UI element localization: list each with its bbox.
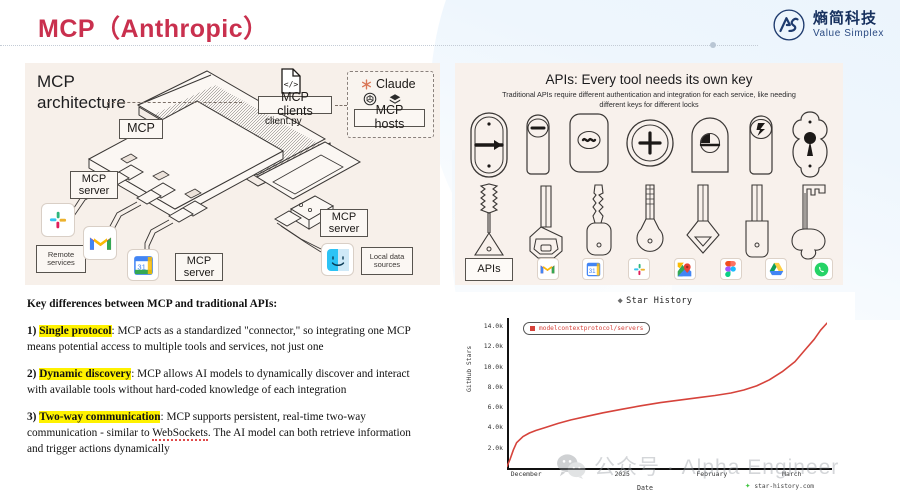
- point-3-misspelled-word: WebSockets: [152, 427, 208, 441]
- google-calendar-icon: 31: [127, 249, 159, 281]
- api-keys-panel: APIs: Every tool needs its own key Tradi…: [455, 63, 843, 285]
- chart-attribution-text: star-history.com: [754, 483, 814, 490]
- point-3-term: Two-way communication: [39, 411, 160, 423]
- legend-label: modelcontextprotocol/servers: [539, 325, 643, 332]
- key-icon-1: [467, 183, 511, 261]
- lock-icon-5: [688, 110, 732, 180]
- node-mcp-hosts: MCP hosts: [354, 109, 425, 127]
- lock-icon-4: [624, 110, 676, 180]
- lock-icon-2: [523, 110, 553, 180]
- header-divider: [0, 45, 758, 46]
- lock-icon-3: [566, 110, 612, 180]
- connector-laptop-to-clients: [107, 102, 242, 103]
- chart-title: ◆Star History: [455, 296, 855, 306]
- chart-y-axis-label: GitHub Stars: [465, 346, 473, 392]
- chart-series-line: [507, 318, 827, 468]
- key-icon-6: [738, 183, 774, 261]
- node-local-data-sources: Local data sources: [361, 247, 413, 275]
- point-2-term: Dynamic discovery: [39, 368, 131, 380]
- point-1-number: 1): [27, 325, 36, 337]
- chart-y-tick: 10.0k: [484, 363, 503, 371]
- slack-icon: [628, 258, 650, 280]
- google-maps-icon: [674, 258, 696, 280]
- point-2-number: 2): [27, 368, 36, 380]
- chart-title-text: Star History: [626, 296, 692, 306]
- chart-x-tick: 2025: [614, 470, 629, 478]
- chart-x-tick: December: [511, 470, 542, 478]
- claude-asterisk-icon: [361, 79, 372, 90]
- connector-tick: [107, 102, 108, 110]
- mcp-architecture-panel: MCParchitecture </> MCP clients client.p…: [25, 63, 440, 285]
- lock-icon-7: [789, 110, 831, 180]
- svg-text:31: 31: [589, 267, 596, 274]
- gmail-icon: [83, 226, 117, 260]
- body-heading: Key differences between MCP and traditio…: [27, 296, 427, 312]
- lock-icon-6: [745, 110, 777, 180]
- as-circle-logo-icon: [772, 8, 806, 42]
- star-history-chart: ◆Star History GitHub Stars Date 2.0k4.0k…: [455, 292, 855, 497]
- mcp-architecture-heading: MCParchitecture: [37, 71, 126, 114]
- node-mcp: MCP: [119, 119, 163, 139]
- chart-x-tick: March: [782, 470, 801, 478]
- figma-icon: [720, 258, 742, 280]
- node-mcp-server-2: MCP server: [320, 209, 368, 237]
- key-icon-7: [789, 183, 831, 261]
- chart-y-tick: 2.0k: [488, 444, 503, 452]
- claude-row: Claude: [361, 77, 416, 91]
- company-logo: 熵简科技 Value Simplex: [772, 8, 884, 42]
- chart-y-tick: 8.0k: [488, 383, 503, 391]
- connector-clients-to-hosts: [335, 105, 347, 106]
- gmail-icon: [537, 258, 559, 280]
- api-panel-title: APIs: Every tool needs its own key: [455, 72, 843, 87]
- chart-y-tick: 14.0k: [484, 322, 503, 330]
- node-remote-services: Remote services: [36, 245, 86, 273]
- chart-attribution: ✦ star-history.com: [745, 482, 814, 491]
- star-history-logo-icon: ✦: [745, 482, 750, 491]
- node-mcp-clients: MCP clients: [258, 96, 332, 114]
- mac-finder-icon: [321, 243, 354, 276]
- google-drive-icon: [765, 258, 787, 280]
- body-text-block: Key differences between MCP and traditio…: [27, 296, 427, 468]
- gem-icon: ◆: [618, 296, 624, 306]
- header-divider-dot: [710, 42, 716, 48]
- node-client-py: client.py: [265, 116, 302, 127]
- svg-text:</>: </>: [284, 80, 299, 89]
- chart-y-tick: 6.0k: [488, 403, 503, 411]
- svg-text:31: 31: [137, 262, 145, 271]
- api-tag: APIs: [465, 258, 513, 281]
- lock-row: [467, 110, 831, 182]
- logo-text-en: Value Simplex: [813, 29, 884, 39]
- lock-icon-1: [467, 110, 511, 180]
- api-service-row: APIs 31: [465, 257, 833, 281]
- chart-x-tick: February: [696, 470, 727, 478]
- page-title: MCP（Anthropic）: [38, 9, 269, 45]
- chart-y-tick: 12.0k: [484, 342, 503, 350]
- google-calendar-icon: 31: [582, 258, 604, 280]
- chart-x-axis-label: Date: [637, 484, 653, 492]
- key-row: [467, 183, 831, 261]
- slack-icon: [41, 203, 75, 237]
- point-1-term: Single protocol: [39, 325, 111, 337]
- point-3-number: 3): [27, 411, 36, 423]
- body-point-2: 2) Dynamic discovery: MCP allows AI mode…: [27, 366, 427, 398]
- chart-plot-area: 2.0k4.0k6.0k8.0k10.0k12.0k14.0k: [507, 318, 827, 468]
- chart-legend: modelcontextprotocol/servers: [523, 322, 650, 335]
- key-icon-5: [684, 183, 722, 261]
- key-icon-3: [582, 183, 616, 261]
- chart-y-tick: 4.0k: [488, 423, 503, 431]
- slide: MCP（Anthropic） 熵简科技 Value Simplex: [0, 0, 900, 504]
- body-point-3: 3) Two-way communication: MCP supports p…: [27, 409, 427, 457]
- body-point-1: 1) Single protocol: MCP acts as a standa…: [27, 323, 427, 355]
- whatsapp-icon: [811, 258, 833, 280]
- claude-label: Claude: [376, 77, 416, 91]
- api-panel-subtitle: Traditional APIs require different authe…: [495, 90, 803, 109]
- key-icon-4: [631, 183, 669, 261]
- legend-swatch: [530, 326, 535, 331]
- logo-text-cn: 熵简科技: [813, 11, 884, 26]
- key-icon-2: [526, 183, 566, 261]
- node-mcp-server-3: MCP server: [175, 253, 223, 281]
- node-mcp-server-1: MCP server: [70, 171, 118, 199]
